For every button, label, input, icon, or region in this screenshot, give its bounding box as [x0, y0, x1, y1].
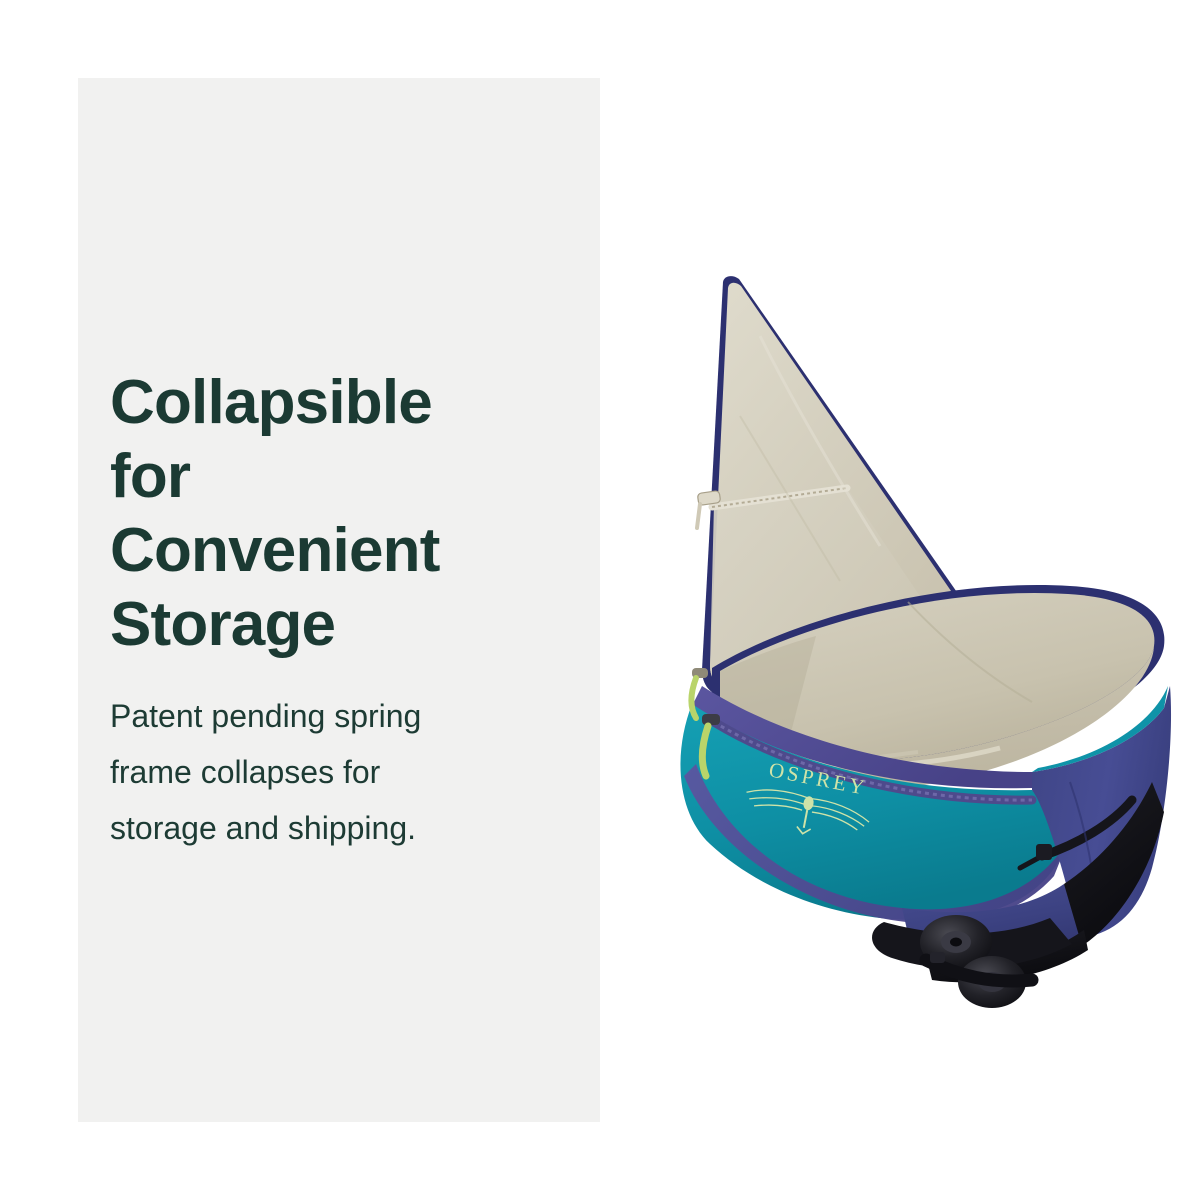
copy-block: Collapsible for Convenient Storage Paten…	[110, 366, 530, 856]
wheel-upper-axle	[950, 938, 962, 947]
wheel-badge	[930, 952, 945, 963]
osprey-duffel-illustration: OSPREY	[640, 216, 1200, 1036]
feature-description: Patent pending spring frame collapses fo…	[110, 688, 530, 856]
product-image: OSPREY	[640, 216, 1200, 1036]
feature-panel: Collapsible for Convenient Storage Paten…	[78, 78, 600, 1122]
side-handle-anchor	[1036, 844, 1052, 860]
page-title: Collapsible for Convenient Storage	[110, 366, 530, 662]
